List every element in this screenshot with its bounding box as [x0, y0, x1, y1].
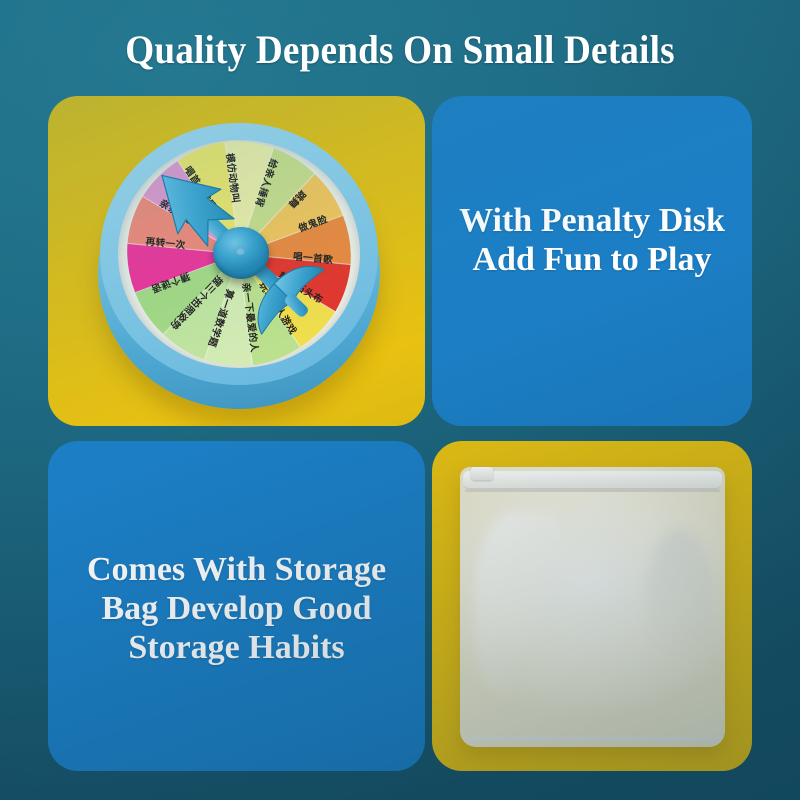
- panel-spinner-wheel-photo: 再转一次 亲亲爸爸 唱首一难唱 模仿动物叫 给亲人捶背 跳舞 做鬼脸 唱一首歌 …: [48, 96, 425, 426]
- bag-zipper-strip: [463, 471, 723, 489]
- caption-line-2: Add Fun to Play: [446, 241, 738, 280]
- zip-lock-storage-bag: [460, 467, 725, 747]
- page-title: Quality Depends On Small Details: [28, 26, 772, 73]
- storage-bag-caption-text: Comes With Storage Bag Develop Good Stor…: [48, 551, 425, 667]
- bag-bottom-seam: [465, 736, 719, 741]
- caption-line-1: With Penalty Disk: [446, 202, 738, 241]
- panel-penalty-disk-caption: With Penalty Disk Add Fun to Play: [432, 96, 752, 426]
- bag-body: [460, 467, 725, 747]
- zipper-slider: [471, 467, 493, 480]
- panel-storage-bag-photo: [432, 441, 752, 771]
- caption-line-1: Comes With Storage: [62, 551, 411, 590]
- spinner-wheel[interactable]: 再转一次 亲亲爸爸 唱首一难唱 模仿动物叫 给亲人捶背 跳舞 做鬼脸 唱一首歌 …: [66, 104, 411, 426]
- caption-line-2: Bag Develop Good: [62, 590, 411, 629]
- penalty-disk-caption-text: With Penalty Disk Add Fun to Play: [432, 202, 752, 280]
- product-infographic: Quality Depends On Small Details: [0, 0, 800, 800]
- bag-zipper-line: [465, 489, 719, 492]
- panel-storage-bag-caption: Comes With Storage Bag Develop Good Stor…: [48, 441, 425, 771]
- center-knob[interactable]: [213, 227, 269, 279]
- caption-line-3: Storage Habits: [62, 629, 411, 668]
